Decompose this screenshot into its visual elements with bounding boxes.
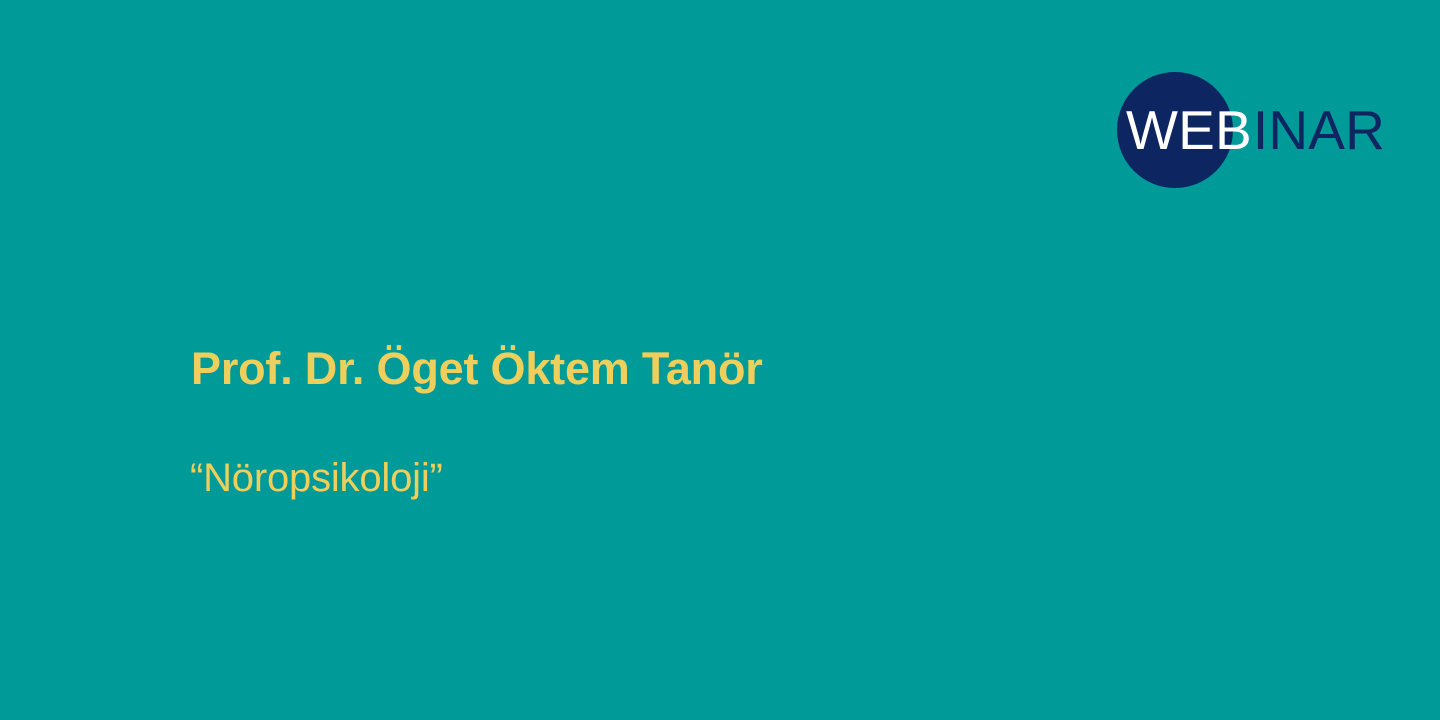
- webinar-slide: WEBINAR Prof. Dr. Öget Öktem Tanör “Nöro…: [0, 0, 1440, 720]
- logo-wordmark: WEBINAR: [1117, 72, 1357, 188]
- talk-title: “Nöropsikoloji”: [190, 456, 443, 501]
- logo-inar-text: INAR: [1253, 99, 1385, 161]
- speaker-name: Prof. Dr. Öget Öktem Tanör: [191, 344, 763, 394]
- logo-web-text: WEB: [1117, 99, 1252, 161]
- webinar-logo: WEBINAR: [1117, 72, 1357, 188]
